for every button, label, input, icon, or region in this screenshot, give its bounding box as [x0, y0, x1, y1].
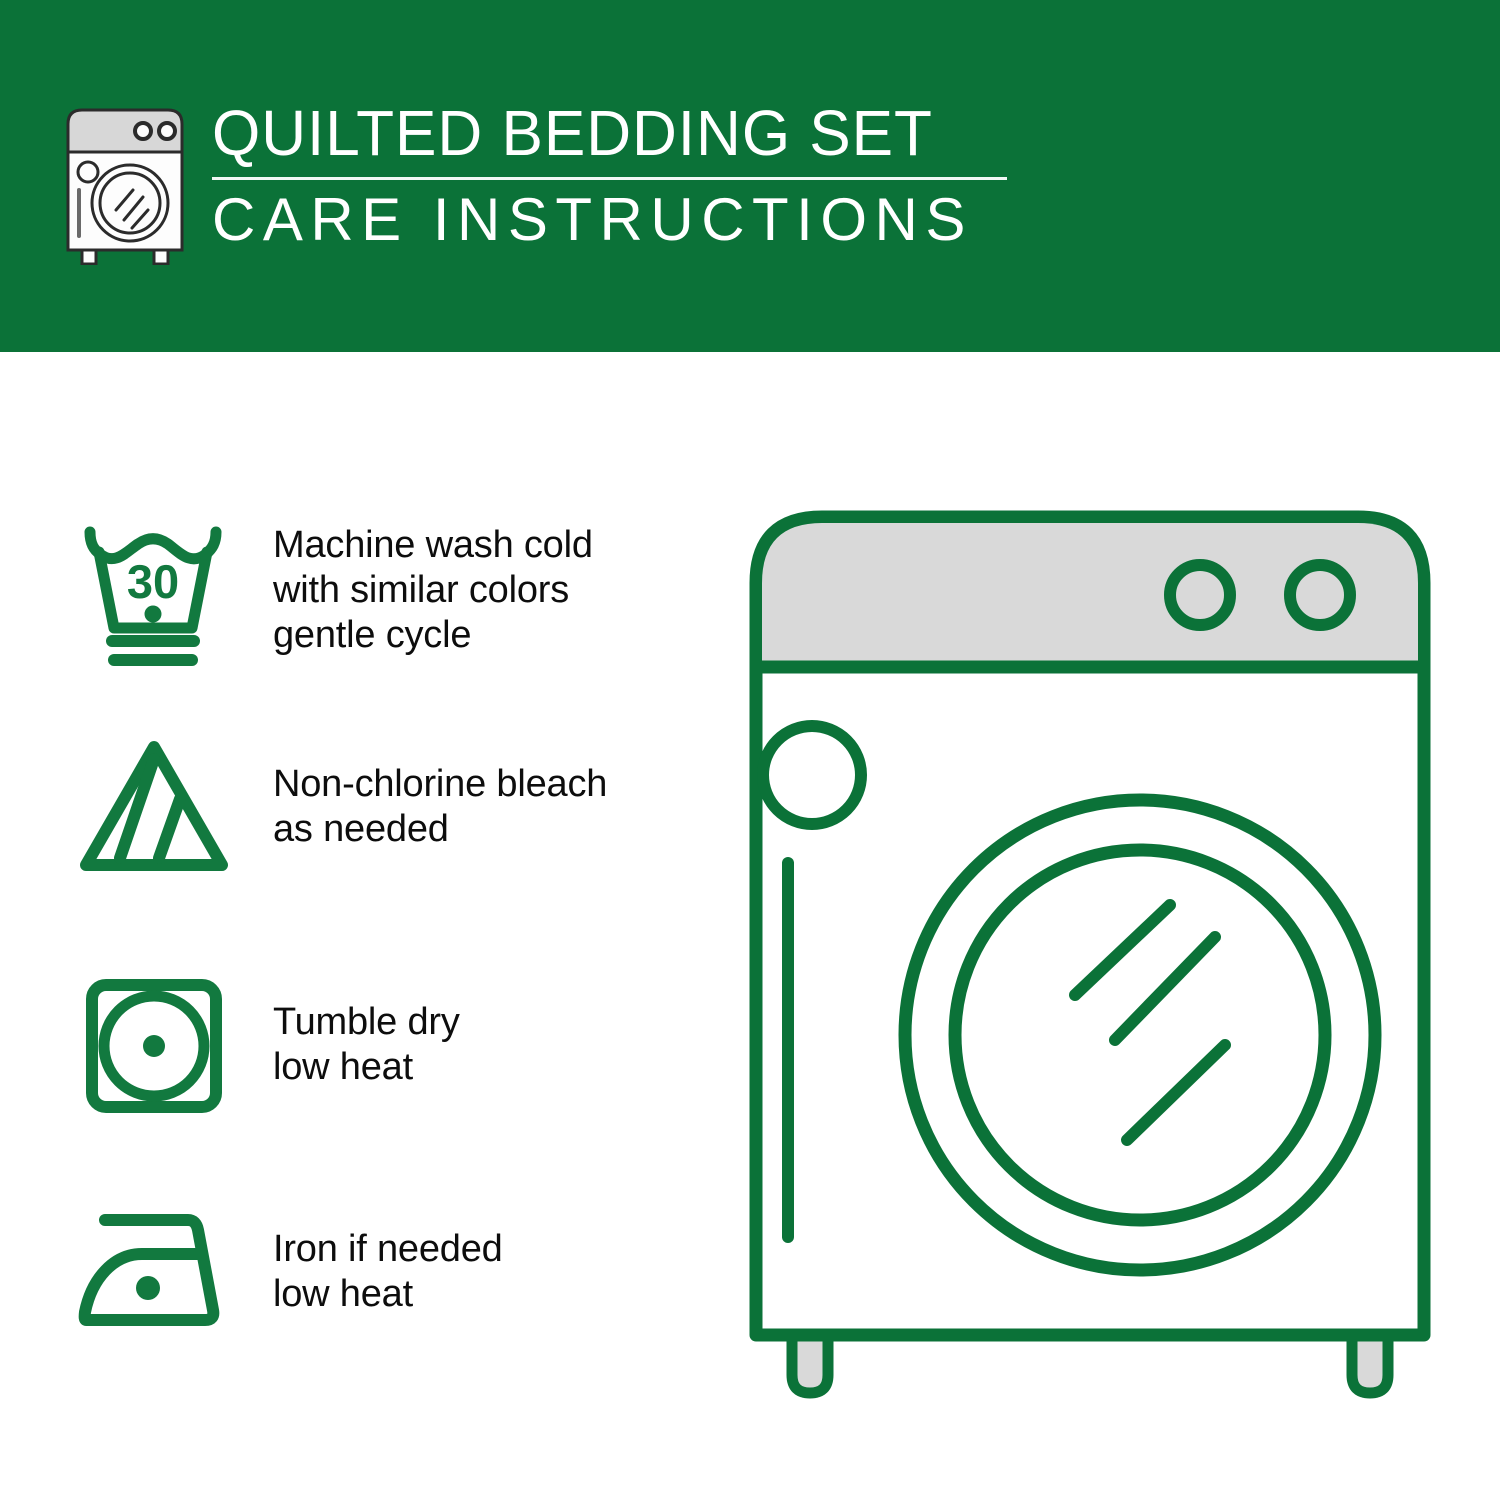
- care-label-line: Iron if needed: [273, 1227, 503, 1272]
- care-label-tumble-dry: Tumble dry low heat: [273, 1000, 460, 1090]
- care-label-machine-wash: Machine wash cold with similar colors ge…: [273, 523, 593, 658]
- care-instructions-infographic: QUILTED BEDDING SET CARE INSTRUCTIONS: [0, 0, 1500, 1500]
- care-label-line: as needed: [273, 807, 607, 852]
- care-symbol-list: 30 Machine wash cold with similar colors…: [0, 500, 720, 1380]
- care-label-iron: Iron if needed low heat: [273, 1227, 503, 1317]
- care-row-bleach: Non-chlorine bleach as needed: [70, 722, 710, 892]
- non-chlorine-bleach-triangle-icon: [70, 727, 245, 887]
- header-title-block: QUILTED BEDDING SET CARE INSTRUCTIONS: [212, 98, 1012, 252]
- header-content: QUILTED BEDDING SET CARE INSTRUCTIONS: [60, 98, 1050, 278]
- iron-low-heat-icon: [70, 1192, 245, 1352]
- care-label-line: low heat: [273, 1045, 460, 1090]
- care-label-line: low heat: [273, 1272, 503, 1317]
- tumble-dry-low-heat-icon: [70, 965, 245, 1125]
- page-title: QUILTED BEDDING SET: [212, 98, 988, 168]
- wash-temperature-value: 30: [127, 555, 179, 608]
- care-label-line: Non-chlorine bleach: [273, 762, 607, 807]
- header-band: QUILTED BEDDING SET CARE INSTRUCTIONS: [0, 0, 1500, 352]
- page-subtitle: CARE INSTRUCTIONS: [212, 188, 1012, 252]
- washing-machine-icon: [60, 100, 190, 265]
- title-divider: [212, 177, 1007, 180]
- care-row-machine-wash: 30 Machine wash cold with similar colors…: [70, 500, 710, 680]
- care-label-line: gentle cycle: [273, 613, 593, 658]
- front-load-washing-machine-illustration: [740, 495, 1460, 1415]
- care-row-tumble-dry: Tumble dry low heat: [70, 962, 710, 1127]
- care-label-line: with similar colors: [273, 568, 593, 613]
- care-label-line: Tumble dry: [273, 1000, 460, 1045]
- care-label-line: Machine wash cold: [273, 523, 593, 568]
- machine-wash-30-gentle-icon: 30: [70, 510, 245, 670]
- care-row-iron: Iron if needed low heat: [70, 1192, 710, 1352]
- control-panel: [762, 523, 1418, 667]
- care-label-bleach: Non-chlorine bleach as needed: [273, 762, 607, 852]
